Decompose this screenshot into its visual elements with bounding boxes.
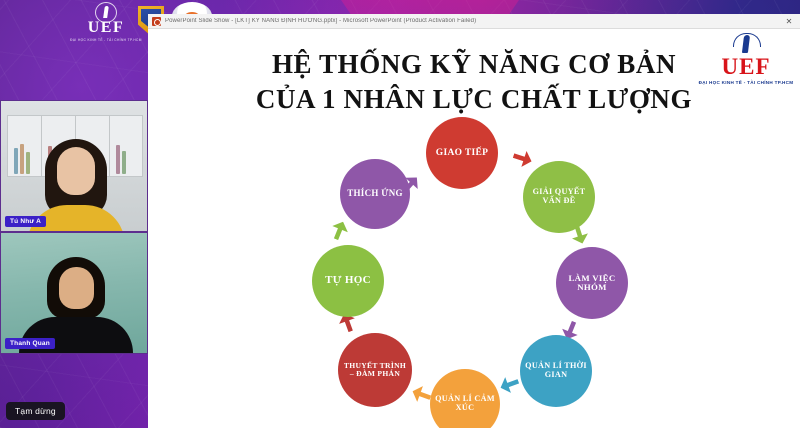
skill-node-6: THUYẾT TRÌNH – ĐÀM PHÁN — [338, 333, 412, 407]
left-strip-top — [0, 0, 148, 100]
person-face — [59, 267, 94, 309]
cycle-arrow-8 — [327, 218, 352, 243]
skill-node-1: GIAO TIẾP — [426, 117, 498, 189]
slide-canvas: UEF ĐẠI HỌC KINH TẾ - TÀI CHÍNH TP.HCM H… — [148, 29, 800, 428]
skill-node-2: GIẢI QUYẾT VẤN ĐỀ — [523, 161, 595, 233]
participant-name-badge: Tú Như A — [5, 216, 46, 227]
cycle-arrow-2 — [511, 147, 535, 171]
skills-cycle-diagram: GIAO TIẾPGIẢI QUYẾT VẤN ĐỀLÀM VIỆC NHÓMQ… — [308, 117, 648, 417]
skill-node-3: LÀM VIỆC NHÓM — [556, 247, 628, 319]
cycle-arrow-5 — [497, 372, 521, 396]
video-feed-2 — [1, 233, 147, 353]
skill-node-8: THÍCH ỨNG — [340, 159, 410, 229]
slide-title: HỆ THỐNG KỸ NĂNG CƠ BẢN CỦA 1 NHÂN LỰC C… — [148, 47, 800, 116]
person-face — [57, 147, 95, 195]
powerpoint-icon — [152, 17, 161, 26]
slide-title-line-1: HỆ THỐNG KỸ NĂNG CƠ BẢN — [272, 49, 676, 79]
participant-tile-2[interactable]: Thanh Quan — [0, 232, 148, 354]
window-title: PowerPoint Slide Show - [LKT] KỸ NĂNG ĐỊ… — [165, 18, 774, 24]
participant-name-badge: Thanh Quan — [5, 338, 55, 349]
video-feed-1 — [1, 101, 147, 231]
skill-node-4: QUẢN LÍ THỜI GIAN — [520, 335, 592, 407]
skill-node-5: QUẢN LÍ CẢM XÚC — [430, 369, 500, 428]
slide-title-line-2: CỦA 1 NHÂN LỰC CHẤT LƯỢNG — [148, 82, 800, 117]
powerpoint-window: PowerPoint Slide Show - [LKT] KỸ NĂNG ĐỊ… — [148, 14, 800, 428]
paused-status-pill: Tạm dừng — [6, 402, 65, 420]
close-icon[interactable]: ✕ — [778, 14, 800, 29]
skill-node-7: TỰ HỌC — [312, 245, 384, 317]
participant-tile-1[interactable]: Tú Như A — [0, 100, 148, 232]
powerpoint-titlebar[interactable]: PowerPoint Slide Show - [LKT] KỸ NĂNG ĐỊ… — [148, 14, 800, 29]
screen-root: UEF ĐẠI HỌC KINH TẾ - TÀI CHÍNH TP.HCM P… — [0, 0, 800, 428]
